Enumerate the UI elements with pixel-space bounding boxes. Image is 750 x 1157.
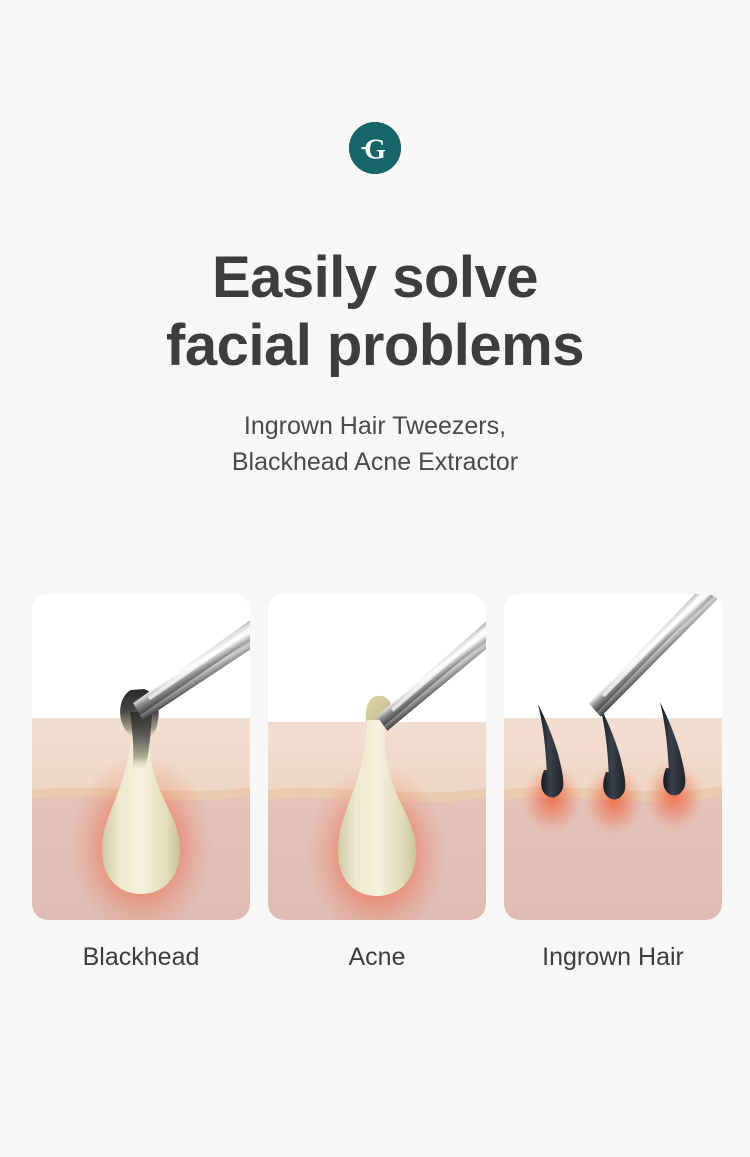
page-subtitle: Ingrown Hair Tweezers, Blackhead Acne Ex… — [0, 408, 750, 480]
caption-acne: Acne — [268, 940, 486, 974]
page-title: Easily solve facial problems — [0, 244, 750, 380]
headline-line-1: Easily solve — [0, 244, 750, 312]
illustration-card-blackhead — [32, 594, 250, 920]
product-feature-page: G Easily solve facial problems Ingrown H… — [0, 0, 750, 1157]
illustration-card-acne — [268, 594, 486, 920]
brand-g-logo-icon: G — [349, 122, 401, 174]
caption-blackhead: Blackhead — [32, 940, 250, 974]
illustration-card-ingrown-hair — [504, 594, 722, 920]
subtitle-line-1: Ingrown Hair Tweezers, — [0, 408, 750, 444]
illustration-card-row — [32, 594, 722, 920]
caption-ingrown-hair: Ingrown Hair — [504, 940, 722, 974]
illustration-caption-row: Blackhead Acne Ingrown Hair — [32, 940, 722, 974]
headline-line-2: facial problems — [0, 312, 750, 380]
subtitle-line-2: Blackhead Acne Extractor — [0, 444, 750, 480]
svg-text:G: G — [364, 135, 386, 166]
